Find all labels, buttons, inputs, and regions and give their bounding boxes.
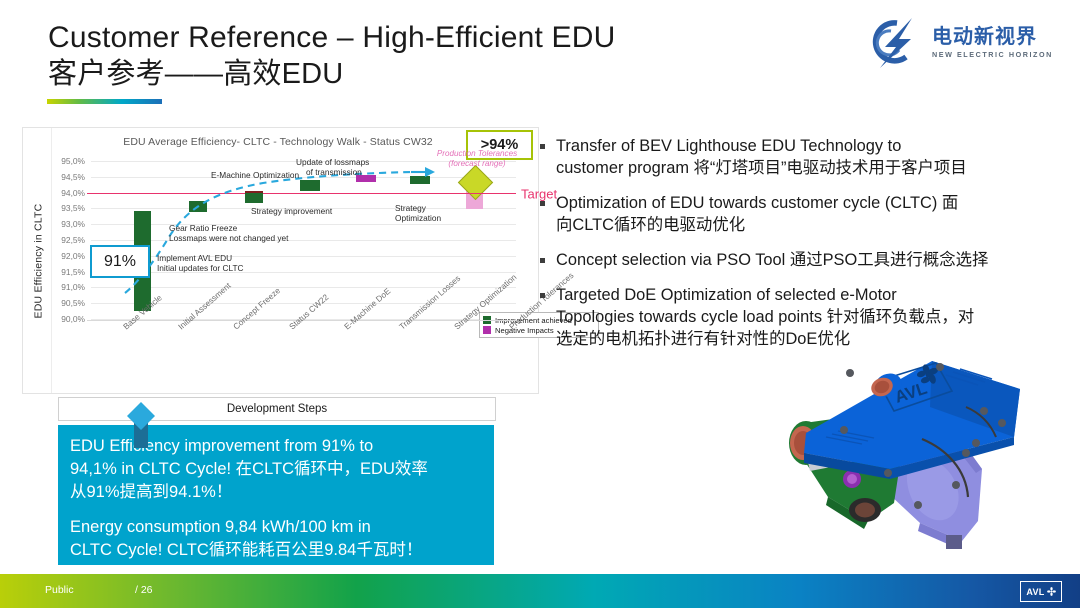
annotation-prodtol-line1: Production Tolerances [437,149,517,158]
annotation-strategy-optimization-2: Optimization [395,213,441,223]
gridline [91,240,516,241]
bullet-list: Transfer of BEV Lighthouse EDU Technolog… [540,135,1068,363]
page-title-en: Customer Reference – High-Efficient EDU [48,21,615,54]
list-item: Concept selection via PSO Tool 通过PSO工具进行… [540,249,1068,271]
y-tick-label: 94,0% [61,188,85,198]
summary-line-4: Energy consumption 9,84 kWh/100 km in [70,516,482,539]
forecast-marker-diamond [458,165,493,200]
y-tick-label: 92,5% [61,235,85,245]
list-item: Optimization of EDU towards customer cyc… [540,192,1068,236]
summary-line-5: CLTC Cycle! CLTC循环能耗百公里9.84千瓦时！ [70,539,482,562]
annotation-update-lossmaps-2: of transmission [306,167,362,177]
footer-classification: Public [45,584,74,596]
summary-spacer [70,504,482,516]
bullet-text: Concept selection via PSO Tool 通过PSO工具进行… [556,249,988,271]
y-tick-label: 95,0% [61,156,85,166]
y-axis-title-text: EDU Efficiency in CLTC [32,203,44,318]
y-tick-label: 92,0% [61,251,85,261]
bullet-square-icon [540,201,545,206]
bullet-line-2: 向CLTC循环的电驱动优化 [556,216,745,234]
gridline [91,224,516,225]
bullet-line-1: Targeted DoE Optimization of selected e-… [556,286,897,304]
edu-product-render: AVL [770,345,1070,563]
annotation-implement-avl-edu-1: Implement AVL EDU [157,253,232,263]
avl-logo-text: AVL [1026,587,1044,597]
annotation-prodtol-line2: (forecast range) [448,159,505,168]
annotation-strategy-optimization-1: Strategy [395,203,426,213]
annotation-implement-avl-edu-2: Initial updates for CLTC [157,263,244,273]
bar-strategy-optimization [410,176,430,184]
summary-callout-box: EDU Efficiency improvement from 91% to 9… [58,425,494,565]
bullet-text: Targeted DoE Optimization of selected e-… [556,284,974,350]
bullet-line-1: Optimization of EDU towards customer cyc… [556,194,958,212]
summary-line-3: 从91%提高到94.1%！ [70,481,482,504]
bullet-line-2: customer program 将“灯塔项目”电驱动技术用于客户项目 [556,159,967,177]
bullet-text: Transfer of BEV Lighthouse EDU Technolog… [556,135,967,179]
y-tick-label: 91,0% [61,282,85,292]
footer-page-number: / 26 [135,584,153,596]
y-tick-label: 91,5% [61,267,85,277]
slide-footer: Public / 26 AVL [0,574,1080,608]
development-steps-axis-label: Development Steps [58,397,496,421]
bullet-line-1: Concept selection via PSO Tool 通过PSO工具进行… [556,251,988,269]
y-tick-label: 90,0% [61,314,85,324]
avl-flower-icon [1047,587,1056,596]
bar-emachine-doe [300,180,320,191]
y-tick-label: 90,5% [61,298,85,308]
y-tick-label: 93,5% [61,203,85,213]
avl-footer-logo: AVL [1020,581,1062,602]
annotation-production-tolerances: Production Tolerances (forecast range) [429,149,525,168]
list-item: Targeted DoE Optimization of selected e-… [540,284,1068,350]
title-accent-bar [47,99,162,104]
chart-title: EDU Average Efficiency- CLTC - Technolog… [113,136,443,148]
logo-wordmark: 电动新视界 NEW ELECTRIC HORIZON [932,26,1053,60]
bar-status-cw22 [245,191,263,203]
bullet-square-icon [540,293,545,298]
y-tick-label: 93,0% [61,219,85,229]
start-value-arrow-icon [127,402,155,448]
annotation-gear-ratio-freeze-2: Lossmaps were not changed yet [169,233,288,243]
list-item: Transfer of BEV Lighthouse EDU Technolog… [540,135,1068,179]
bullet-line-1: Transfer of BEV Lighthouse EDU Technolog… [556,137,901,155]
bullet-square-icon [540,144,545,149]
annotation-gear-ratio-freeze-1: Gear Ratio Freeze [169,223,237,233]
bullet-text: Optimization of EDU towards customer cyc… [556,192,958,236]
bullet-square-icon [540,258,545,263]
gridline [91,272,516,273]
page-title-cn: 客户参考——高效EDU [48,56,748,92]
y-tick-label: 94,5% [61,172,85,182]
logo-english-name: NEW ELECTRIC HORIZON [932,50,1053,60]
bar-concept-freeze [189,201,207,212]
chart-x-axis: Base Vehicle Initial Assessment Concept … [91,320,516,390]
brand-logo: 电动新视界 NEW ELECTRIC HORIZON [866,14,1062,72]
annotation-emachine-optimization: E-Machine Optimization [211,170,299,180]
chart-y-axis-title: EDU Efficiency in CLTC [25,128,52,393]
gridline [91,177,516,178]
gridline [91,256,516,257]
page-title: Customer Reference – High-Efficient EDU … [48,20,748,92]
inverter-cover-blue: AVL [804,361,1020,479]
summary-line-2: 94,1% in CLTC Cycle! 在CLTC循环中，EDU效率 [70,458,482,481]
target-line [87,193,516,195]
annotation-strategy-improvement: Strategy improvement [251,206,332,216]
bullet-line-2: Topologies towards cycle load points 针对循… [556,308,974,326]
logo-chinese-name: 电动新视界 [932,26,1053,48]
start-efficiency-callout: 91% [90,245,150,278]
lightning-circle-icon [866,17,924,69]
annotation-update-lossmaps-1: Update of lossmaps [296,157,369,167]
